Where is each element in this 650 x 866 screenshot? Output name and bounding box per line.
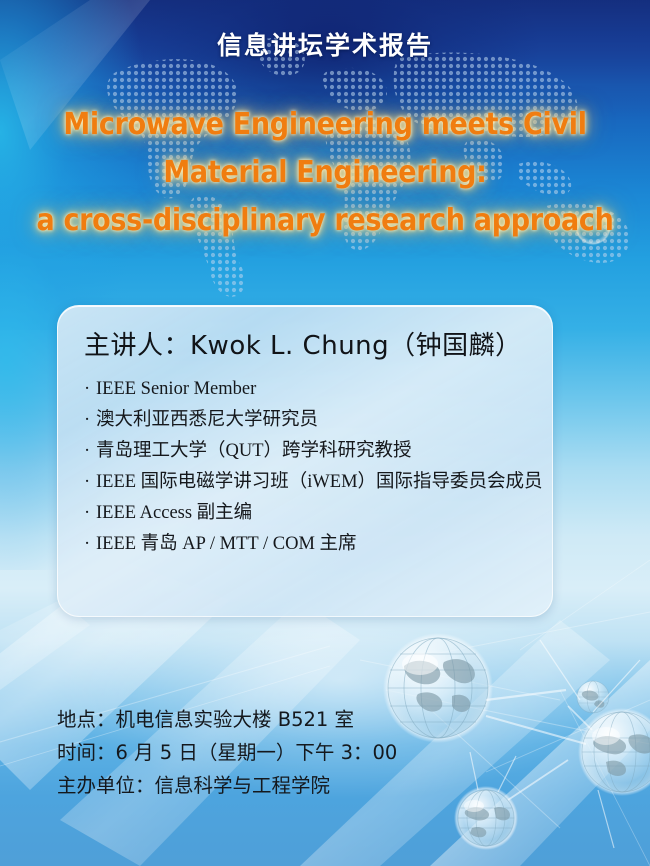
list-item: ·IEEE 青岛 AP / MTT / COM 主席 xyxy=(84,529,526,560)
speaker-name-line: 主讲人：Kwok L. Chung（钟国麟） xyxy=(84,328,526,364)
main-title: Microwave Engineering meets Civil Materi… xyxy=(0,101,650,245)
list-item-label: 青岛理工大学（QUT）跨学科研究教授 xyxy=(96,441,412,461)
list-item: ·IEEE Access 副主编 xyxy=(84,498,526,529)
globe-small-top xyxy=(575,209,611,713)
list-item-label: IEEE Senior Member xyxy=(96,379,256,399)
title-line-1: Microwave Engineering meets Civil xyxy=(0,101,650,149)
credentials-list: ·IEEE Senior Member ·澳大利亚西悉尼大学研究员 ·青岛理工大… xyxy=(84,374,526,560)
list-item: ·IEEE Senior Member xyxy=(84,374,526,405)
bullet-icon: · xyxy=(84,498,96,529)
bullet-icon: · xyxy=(84,467,96,498)
event-location: 地点：机电信息实验大楼 B521 室 xyxy=(57,703,497,736)
bullet-icon: · xyxy=(84,529,96,560)
title-line-2: Material Engineering: xyxy=(0,149,650,197)
list-item-label: 澳大利亚西悉尼大学研究员 xyxy=(96,410,318,430)
list-item-label: IEEE 青岛 AP / MTT / COM 主席 xyxy=(96,534,357,554)
page-title: 信息讲坛学术报告 xyxy=(0,26,650,62)
poster-root: 信息讲坛学术报告 Microwave Engineering meets Civ… xyxy=(0,0,650,866)
list-item: ·澳大利亚西悉尼大学研究员 xyxy=(84,405,526,436)
bullet-icon: · xyxy=(84,405,96,436)
event-details: 地点：机电信息实验大楼 B521 室 时间：6 月 5 日（星期一）下午 3：0… xyxy=(57,703,497,802)
title-line-3: a cross-disciplinary research approach xyxy=(0,197,650,245)
list-item: ·IEEE 国际电磁学讲习班（iWEM）国际指导委员会成员 xyxy=(84,467,526,498)
bullet-icon: · xyxy=(84,436,96,467)
globe-right xyxy=(578,708,650,796)
event-organizer: 主办单位：信息科学与工程学院 xyxy=(57,769,497,802)
list-item-label: IEEE Access 副主编 xyxy=(96,503,252,523)
list-item-label: IEEE 国际电磁学讲习班（iWEM）国际指导委员会成员 xyxy=(96,472,543,492)
bullet-icon: · xyxy=(84,374,96,405)
event-time: 时间：6 月 5 日（星期一）下午 3：00 xyxy=(57,736,497,769)
speaker-info-panel: 主讲人：Kwok L. Chung（钟国麟） ·IEEE Senior Memb… xyxy=(57,305,553,617)
list-item: ·青岛理工大学（QUT）跨学科研究教授 xyxy=(84,436,526,467)
